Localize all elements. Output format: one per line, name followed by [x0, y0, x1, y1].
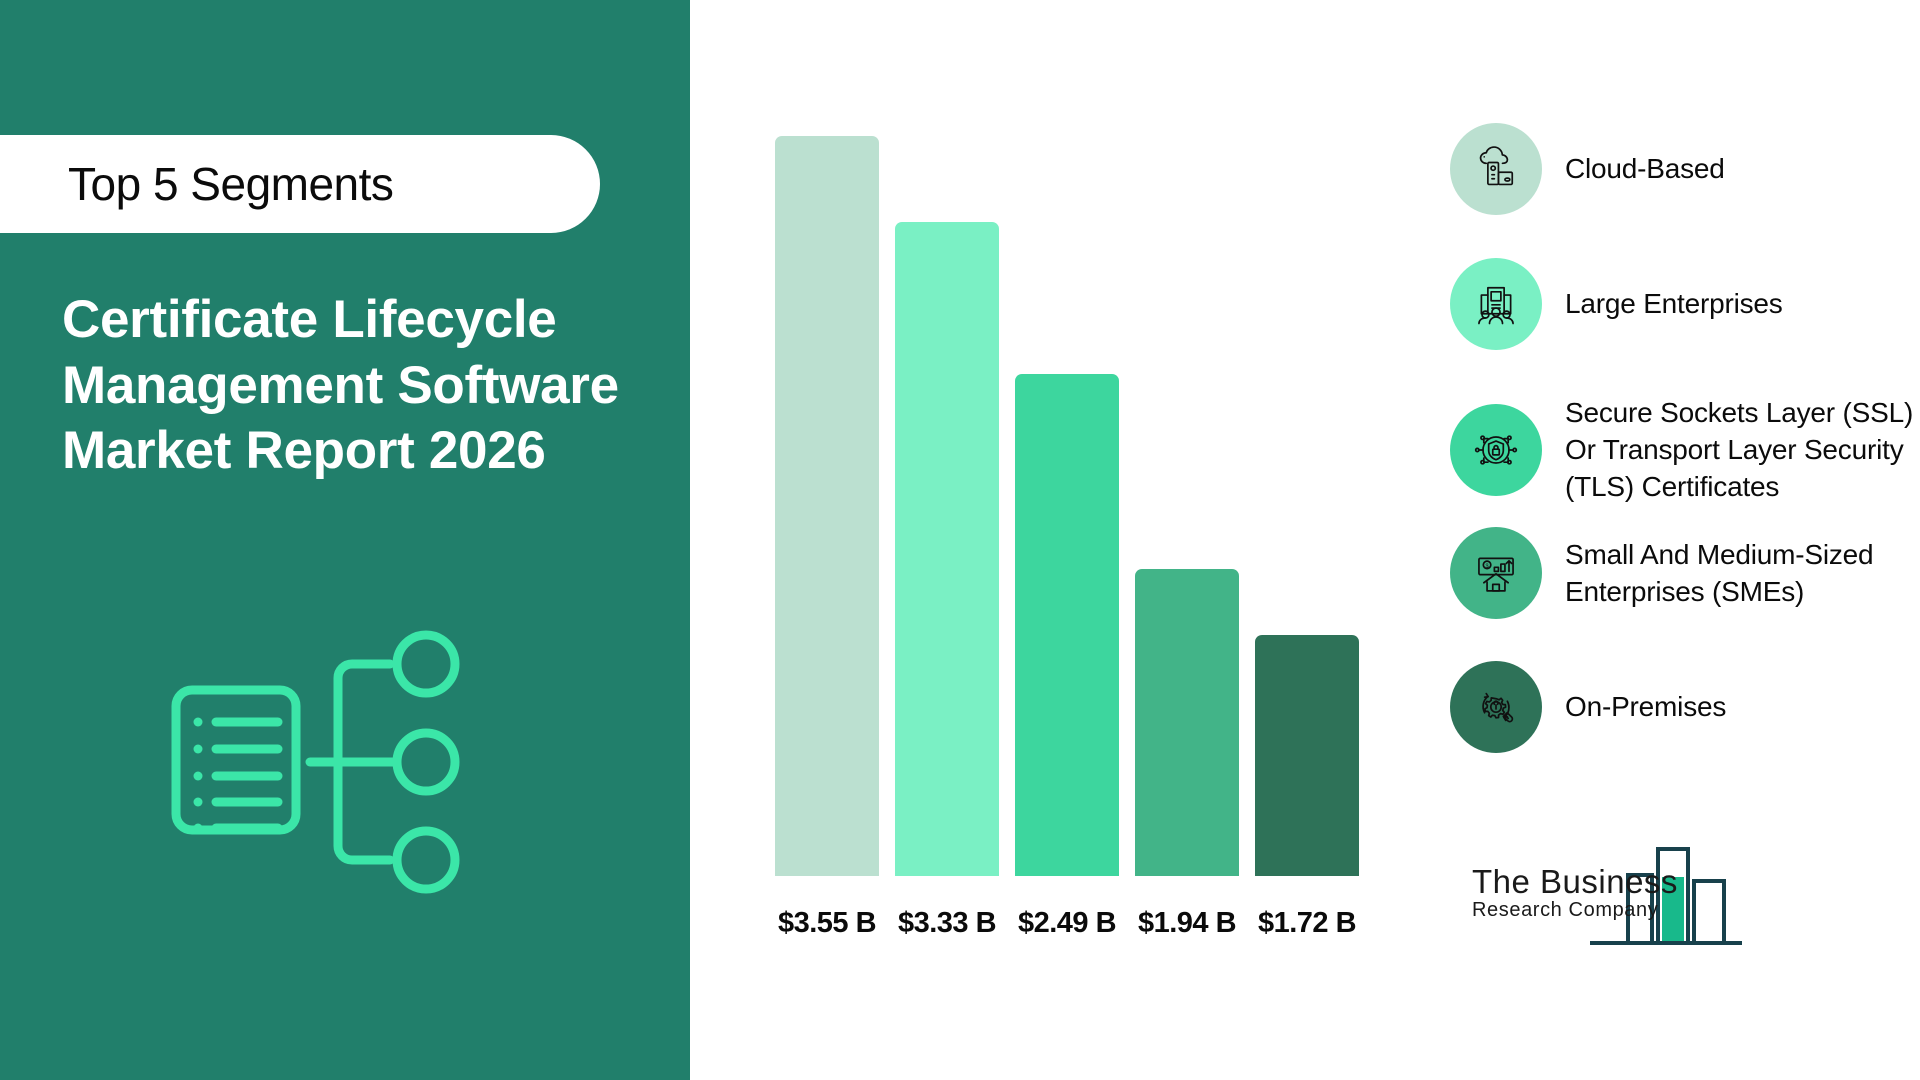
legend-item-cloud-based[interactable]: Cloud-Based	[1450, 123, 1920, 215]
bar-value-label: $1.72 B	[1255, 907, 1359, 940]
bar-ssl-tls-certificates[interactable]	[1015, 374, 1119, 876]
office-building-people-icon	[1450, 258, 1542, 350]
bar-large-enterprises[interactable]	[895, 222, 999, 876]
gear-wrench-refresh-icon	[1450, 661, 1542, 753]
legend-item-ssl-tls-certificates[interactable]: Secure Sockets Layer (SSL) Or Transport …	[1450, 394, 1920, 506]
legend-item-label: Small And Medium-Sized Enterprises (SMEs…	[1565, 536, 1920, 610]
legend-item-on-premises[interactable]: On-Premises	[1450, 661, 1920, 753]
bar-column	[895, 136, 999, 876]
cloud-server-icon	[1450, 123, 1542, 215]
bar-column	[1015, 136, 1119, 876]
bar-value-labels: $3.55 B $3.33 B $2.49 B $1.94 B $1.72 B	[775, 907, 1375, 940]
bar-group	[775, 136, 1375, 876]
top-segments-badge-label: Top 5 Segments	[68, 157, 393, 211]
left-panel: Top 5 Segments Certificate Lifecycle Man…	[0, 0, 690, 1080]
bar-column	[775, 136, 879, 876]
bar-column	[1135, 136, 1239, 876]
document-hierarchy-icon	[168, 622, 498, 922]
small-business-growth-icon: $	[1450, 527, 1542, 619]
bar-smes[interactable]	[1135, 569, 1239, 876]
logo-line-1: The Business	[1472, 863, 1702, 901]
company-logo: The Business Research Company	[1472, 835, 1812, 965]
bar-value-label: $3.33 B	[895, 907, 999, 940]
legend-item-label: Cloud-Based	[1565, 150, 1725, 187]
logo-line-2: Research Company	[1472, 899, 1702, 922]
bar-cloud-based[interactable]	[775, 136, 879, 876]
bar-value-label: $2.49 B	[1015, 907, 1119, 940]
report-title: Certificate Lifecycle Management Softwar…	[62, 287, 622, 484]
legend-item-smes[interactable]: $ Small And Medium-Sized Enterprises (SM…	[1450, 527, 1920, 619]
legend-item-label: Large Enterprises	[1565, 285, 1783, 322]
network-shield-lock-icon	[1450, 404, 1542, 496]
legend-item-label: Secure Sockets Layer (SSL) Or Transport …	[1565, 394, 1920, 506]
bar-chart: $3.55 B $3.33 B $2.49 B $1.94 B $1.72 B	[690, 0, 1430, 1080]
legend-item-large-enterprises[interactable]: Large Enterprises	[1450, 258, 1920, 350]
bar-value-label: $3.55 B	[775, 907, 879, 940]
bar-on-premises[interactable]	[1255, 635, 1359, 876]
bar-value-label: $1.94 B	[1135, 907, 1239, 940]
top-segments-badge: Top 5 Segments	[0, 135, 600, 233]
bar-column	[1255, 136, 1359, 876]
legend-item-label: On-Premises	[1565, 688, 1726, 725]
